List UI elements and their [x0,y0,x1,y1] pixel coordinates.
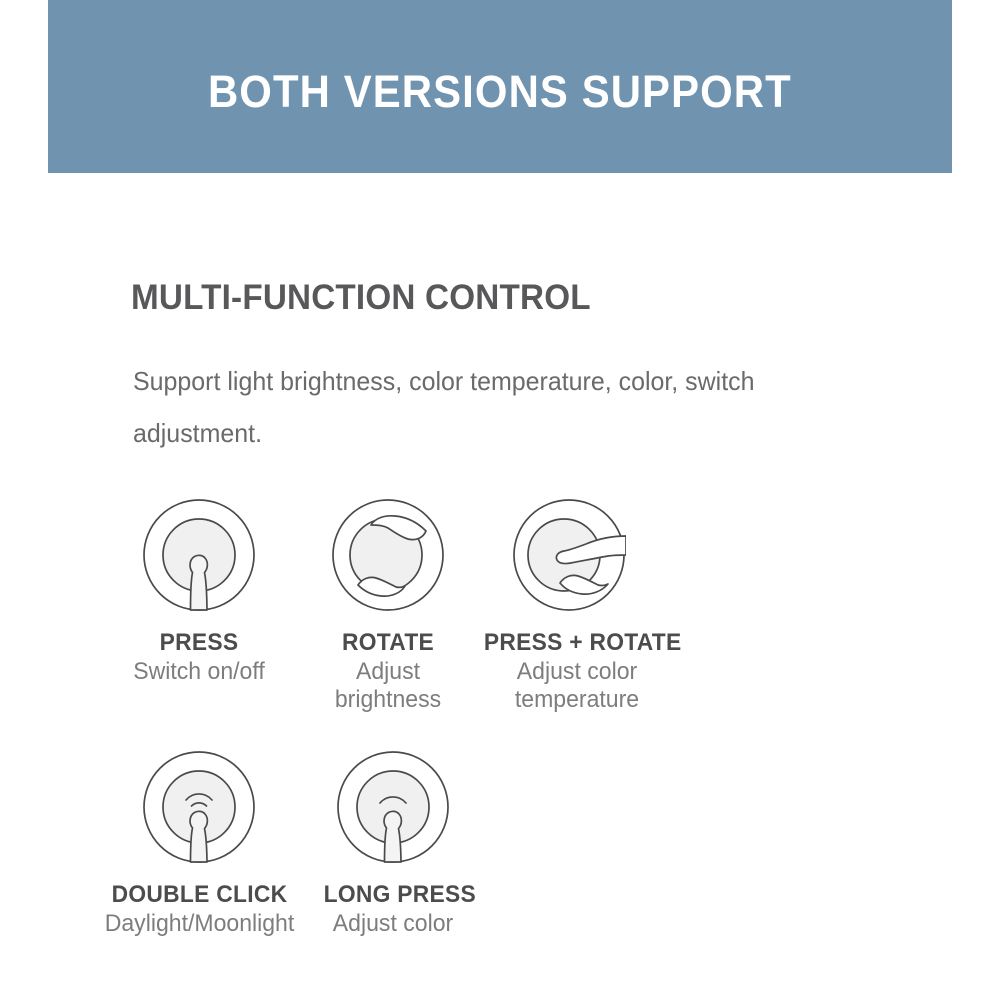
gesture-item-press: PRESS Switch on/off [104,498,294,686]
gesture-description: Adjust brightness [321,658,455,714]
finger-double-tap-circle-icon [142,750,256,864]
banner-title: BOTH VERSIONS SUPPORT [208,69,792,114]
gesture-row-2: DOUBLE CLICK Daylight/Moonlight LONG PRE… [0,750,1000,1000]
gesture-row-1: PRESS Switch on/off ROTATE Adjust bright… [0,498,1000,750]
gesture-caption: PRESS [109,629,290,657]
header-banner: BOTH VERSIONS SUPPORT [48,0,952,173]
gesture-description: Switch on/off [108,658,290,686]
finger-press-rotate-circle-icon [512,498,626,612]
page-title: MULTI-FUNCTION CONTROL [131,278,591,318]
gesture-item-double-click: DOUBLE CLICK Daylight/Moonlight [82,750,317,938]
finger-long-press-circle-icon [336,750,450,864]
gesture-grid: PRESS Switch on/off ROTATE Adjust bright… [0,498,1000,1000]
gesture-item-long-press: LONG PRESS Adjust color [320,750,466,938]
gesture-caption: DOUBLE CLICK [88,881,311,909]
gesture-description: Adjust color temperature [483,658,671,714]
gesture-description: Daylight/Moonlight [87,910,313,938]
section-description: Support light brightness, color temperat… [133,355,863,459]
gesture-caption: ROTATE [322,629,455,657]
gesture-item-press-rotate: PRESS + ROTATE Adjust color temperature [479,498,675,714]
gesture-caption: LONG PRESS [324,881,463,909]
gesture-caption: PRESS + ROTATE [484,629,670,657]
two-finger-rotate-circle-icon [331,498,445,612]
gesture-description: Adjust color [323,910,463,938]
finger-press-circle-icon [142,498,256,612]
gesture-item-rotate: ROTATE Adjust brightness [318,498,458,714]
